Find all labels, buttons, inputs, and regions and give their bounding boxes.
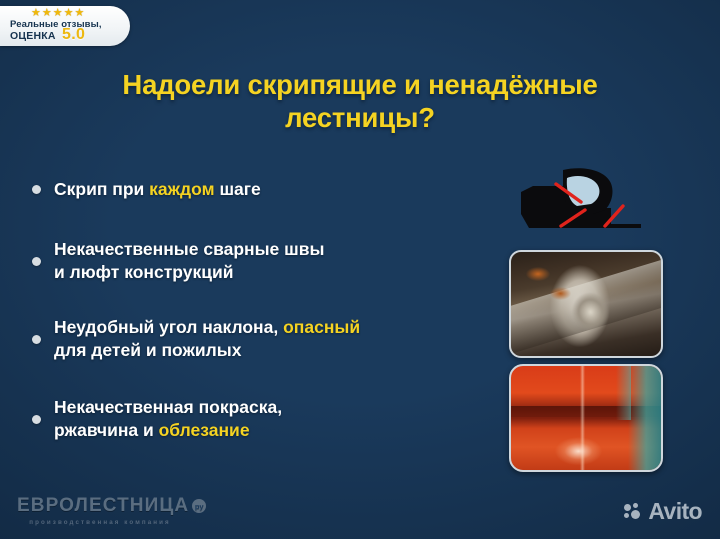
- company-logo-wordmark: ЕВРОЛЕСТНИЦА ру: [17, 495, 206, 517]
- list-item: Скрип при каждом шаге: [32, 174, 492, 204]
- badge-line-2: ОЦЕНКА: [10, 30, 56, 42]
- problem-list: Скрип при каждом шаге Некачественные сва…: [32, 170, 492, 442]
- bullet-dot-icon: [32, 257, 41, 266]
- company-logo: ЕВРОЛЕСТНИЦА ру производственная компани…: [17, 495, 206, 526]
- page-title-line-1: Надоели скрипящие и ненадёжные: [122, 69, 597, 100]
- list-item-text: Неудобный угол наклона, опасный для дете…: [54, 316, 360, 362]
- rust-spot: [526, 267, 550, 282]
- stair-foot-silhouette-image: [519, 168, 655, 240]
- list-item: Некачественные сварные швы и люфт констр…: [32, 238, 492, 284]
- avito-watermark: Avito: [624, 498, 702, 525]
- list-item-text-pre: Некачественные сварные швы: [54, 239, 324, 259]
- list-item: Некачественная покраска, ржавчина и обле…: [32, 396, 492, 442]
- page-title-line-2: лестницы?: [285, 102, 435, 133]
- list-item-text: Некачественная покраска, ржавчина и обле…: [54, 396, 282, 442]
- list-item-text-line2: для детей и пожилых: [54, 340, 241, 360]
- list-item-text-line2: и люфт конструкций: [54, 262, 234, 282]
- list-item-text: Скрип при каждом шаге: [54, 178, 261, 201]
- rating-stars-icon: ★★★★★: [31, 8, 85, 19]
- list-item-highlight: облезание: [159, 420, 250, 440]
- list-item-text-pre: Неудобный угол наклона,: [54, 317, 283, 337]
- company-logo-subtitle: производственная компания: [17, 519, 183, 526]
- bullet-dot-icon: [32, 185, 41, 194]
- company-logo-text: ЕВРОЛЕСТНИЦА: [17, 495, 189, 517]
- list-item-highlight: опасный: [283, 317, 360, 337]
- peeling-red-paint-image: [509, 364, 663, 472]
- avito-wordmark: Avito: [648, 498, 702, 525]
- review-rating-badge: ★★★★★ Реальные отзывы, ОЦЕНКА 5.0: [0, 6, 130, 46]
- badge-line-1: Реальные отзывы,: [10, 19, 102, 30]
- stair-foot-silhouette-graphic: [519, 168, 655, 240]
- weld-seam-image: [509, 250, 663, 358]
- bullet-dot-icon: [32, 415, 41, 424]
- avito-logo-icon: [624, 503, 643, 520]
- bullet-dot-icon: [32, 335, 41, 344]
- badge-score-value: 5.0: [62, 26, 85, 44]
- paint-glare: [547, 426, 610, 468]
- list-item-text-post: шаге: [215, 179, 261, 199]
- promo-slide: ★★★★★ Реальные отзывы, ОЦЕНКА 5.0 Надоел…: [0, 0, 720, 539]
- list-item-text-pre: Некачественная покраска,: [54, 397, 282, 417]
- domain-badge-icon: ру: [192, 499, 206, 513]
- paint-chip-primary: [628, 366, 661, 470]
- list-item-highlight: каждом: [149, 179, 214, 199]
- list-item-text: Некачественные сварные швы и люфт констр…: [54, 238, 324, 284]
- list-item-text-line2-pre: ржавчина и: [54, 420, 159, 440]
- page-title: Надоели скрипящие и ненадёжные лестницы?: [60, 68, 660, 134]
- list-item-text-pre: Скрип при: [54, 179, 149, 199]
- list-item: Неудобный угол наклона, опасный для дете…: [32, 316, 492, 362]
